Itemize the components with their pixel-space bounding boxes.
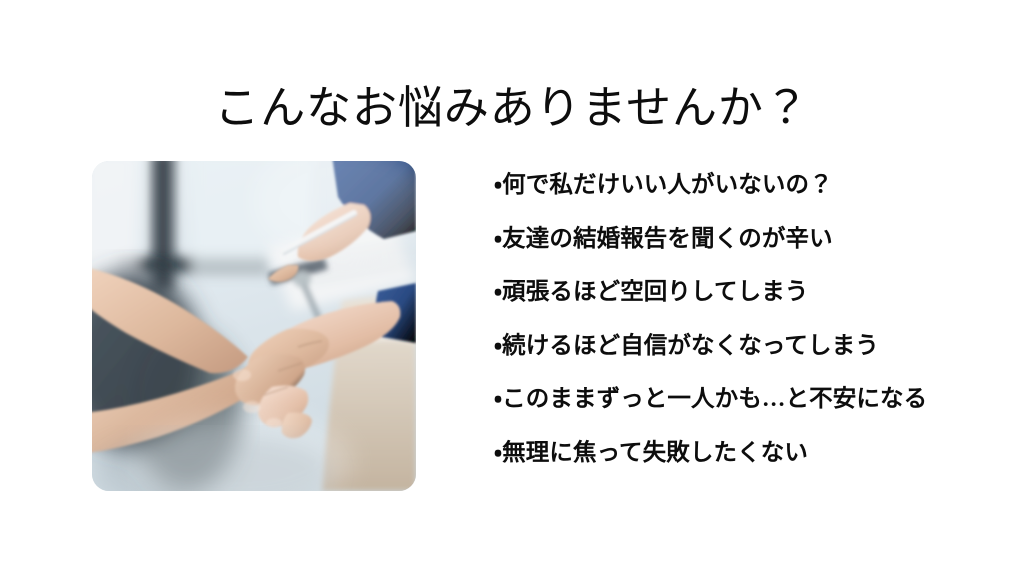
slide-canvas: こんなお悩みありませんか？ xyxy=(0,0,1024,576)
page-title: こんなお悩みありませんか？ xyxy=(0,82,1024,135)
consultation-photo xyxy=(92,161,416,491)
list-item: ・続けるほど自信がなくなってしまう xyxy=(494,335,964,359)
concerns-bullet-list: ・何で私だけいい人がいないの？ ・友達の結婚報告を聞くのが辛い ・頑張るほど空回… xyxy=(494,174,964,465)
list-item: ・無理に焦って失敗したくない xyxy=(494,442,964,466)
photo-illustration xyxy=(92,161,416,491)
list-item: ・このままずっと一人かも…と不安になる xyxy=(494,388,964,412)
list-item: ・頑張るほど空回りしてしまう xyxy=(494,281,964,305)
list-item: ・何で私だけいい人がいないの？ xyxy=(494,174,964,198)
list-item: ・友達の結婚報告を聞くのが辛い xyxy=(494,228,964,252)
